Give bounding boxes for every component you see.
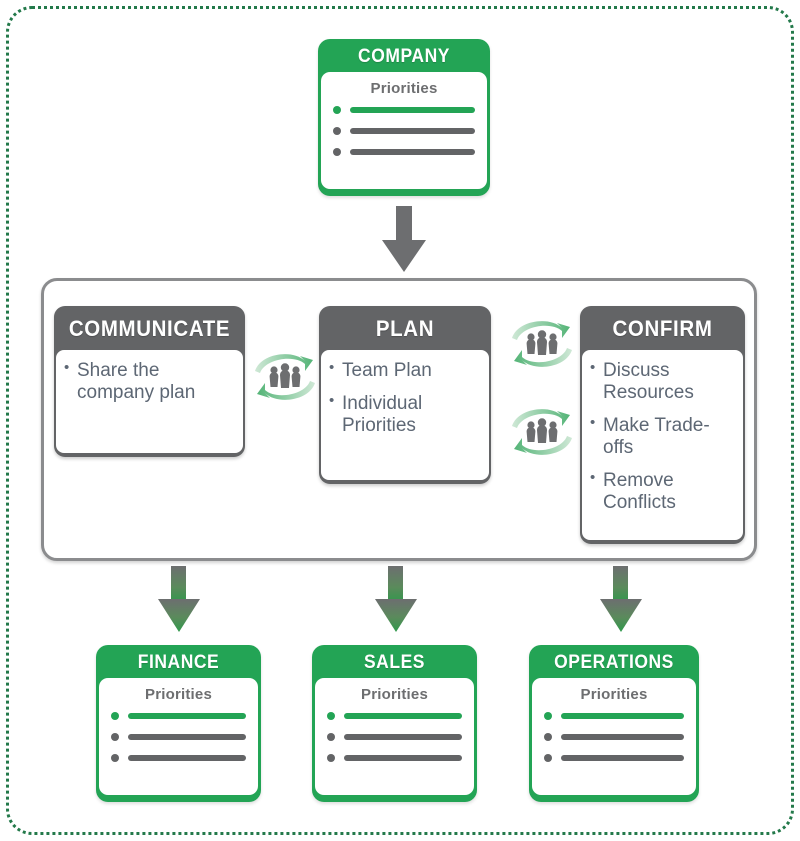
finance-card-title: FINANCE [105, 648, 251, 678]
priority-bullet-icon [111, 712, 119, 720]
priority-row [333, 127, 475, 135]
list-item: Individual Priorities [329, 393, 479, 437]
operations-priorities-card[interactable]: OPERATIONS Priorities [529, 645, 699, 802]
sales-card-subtitle: Priorities [327, 686, 462, 703]
cycle-people-icon-communicate-plan [249, 341, 321, 413]
priority-row [111, 712, 246, 720]
company-priorities-card[interactable]: COMPANY Priorities [318, 39, 490, 196]
step-box-communicate-title: COMMUNICATE [63, 308, 237, 350]
operations-card-title: OPERATIONS [539, 648, 690, 678]
step-box-confirm[interactable]: CONFIRM Discuss Resources Make Trade-off… [580, 306, 745, 544]
priority-bullet-icon [327, 733, 335, 741]
priority-row [333, 106, 475, 114]
priority-row [111, 733, 246, 741]
priority-bullet-icon [111, 733, 119, 741]
priority-row [327, 733, 462, 741]
company-card-body: Priorities [321, 72, 487, 189]
priority-bullet-icon [544, 733, 552, 741]
step-box-confirm-title: CONFIRM [588, 308, 738, 350]
down-arrow-operations [597, 566, 645, 634]
list-item: Remove Conflicts [590, 470, 733, 514]
priority-bullet-icon [327, 712, 335, 720]
priority-bar [128, 755, 246, 761]
priority-bullet-icon [544, 754, 552, 762]
cycle-people-icon-plan-confirm-upper [506, 308, 578, 380]
list-item: Team Plan [329, 360, 479, 382]
priority-bar [344, 755, 462, 761]
priority-bar [350, 128, 475, 134]
operations-card-subtitle: Priorities [544, 686, 684, 703]
priority-row [544, 712, 684, 720]
sales-card-title: SALES [321, 648, 467, 678]
priority-row [333, 148, 475, 156]
step-box-plan[interactable]: PLAN Team Plan Individual Priorities [319, 306, 491, 484]
priority-bar [561, 713, 684, 719]
priority-bullet-icon [544, 712, 552, 720]
priority-bullet-icon [333, 148, 341, 156]
down-arrow-sales [372, 566, 420, 634]
cycle-people-icon-plan-confirm-lower [506, 396, 578, 468]
step-box-plan-title: PLAN [327, 308, 483, 350]
diagram-canvas: COMPANY Priorities [0, 0, 800, 841]
list-item: Make Trade-offs [590, 415, 733, 459]
priority-bar [344, 734, 462, 740]
step-box-plan-body: Team Plan Individual Priorities [321, 350, 489, 480]
priority-bullet-icon [327, 754, 335, 762]
priority-bar [128, 713, 246, 719]
list-item: Discuss Resources [590, 360, 733, 404]
priority-bar [561, 755, 684, 761]
sales-card-body: Priorities [315, 678, 474, 795]
sales-priorities-card[interactable]: SALES Priorities [312, 645, 477, 802]
step-box-communicate[interactable]: COMMUNICATE Share the company plan [54, 306, 245, 457]
company-card-subtitle: Priorities [333, 80, 475, 97]
priority-bar [350, 149, 475, 155]
list-item: Share the company plan [64, 360, 233, 404]
operations-card-body: Priorities [532, 678, 696, 795]
priority-bullet-icon [333, 106, 341, 114]
priority-row [111, 754, 246, 762]
down-arrow-gray [378, 206, 430, 274]
finance-card-body: Priorities [99, 678, 258, 795]
company-card-title: COMPANY [328, 42, 481, 72]
priority-bar [561, 734, 684, 740]
priority-bar [128, 734, 246, 740]
priority-bar [350, 107, 475, 113]
step-box-communicate-body: Share the company plan [56, 350, 243, 453]
priority-bullet-icon [333, 127, 341, 135]
priority-row [544, 733, 684, 741]
priority-bullet-icon [111, 754, 119, 762]
priority-row [327, 712, 462, 720]
priority-row [544, 754, 684, 762]
priority-bar [344, 713, 462, 719]
finance-priorities-card[interactable]: FINANCE Priorities [96, 645, 261, 802]
step-box-confirm-body: Discuss Resources Make Trade-offs Remove… [582, 350, 743, 540]
down-arrow-finance [155, 566, 203, 634]
process-container: COMMUNICATE Share the company plan PLAN … [41, 278, 757, 561]
priority-row [327, 754, 462, 762]
finance-card-subtitle: Priorities [111, 686, 246, 703]
